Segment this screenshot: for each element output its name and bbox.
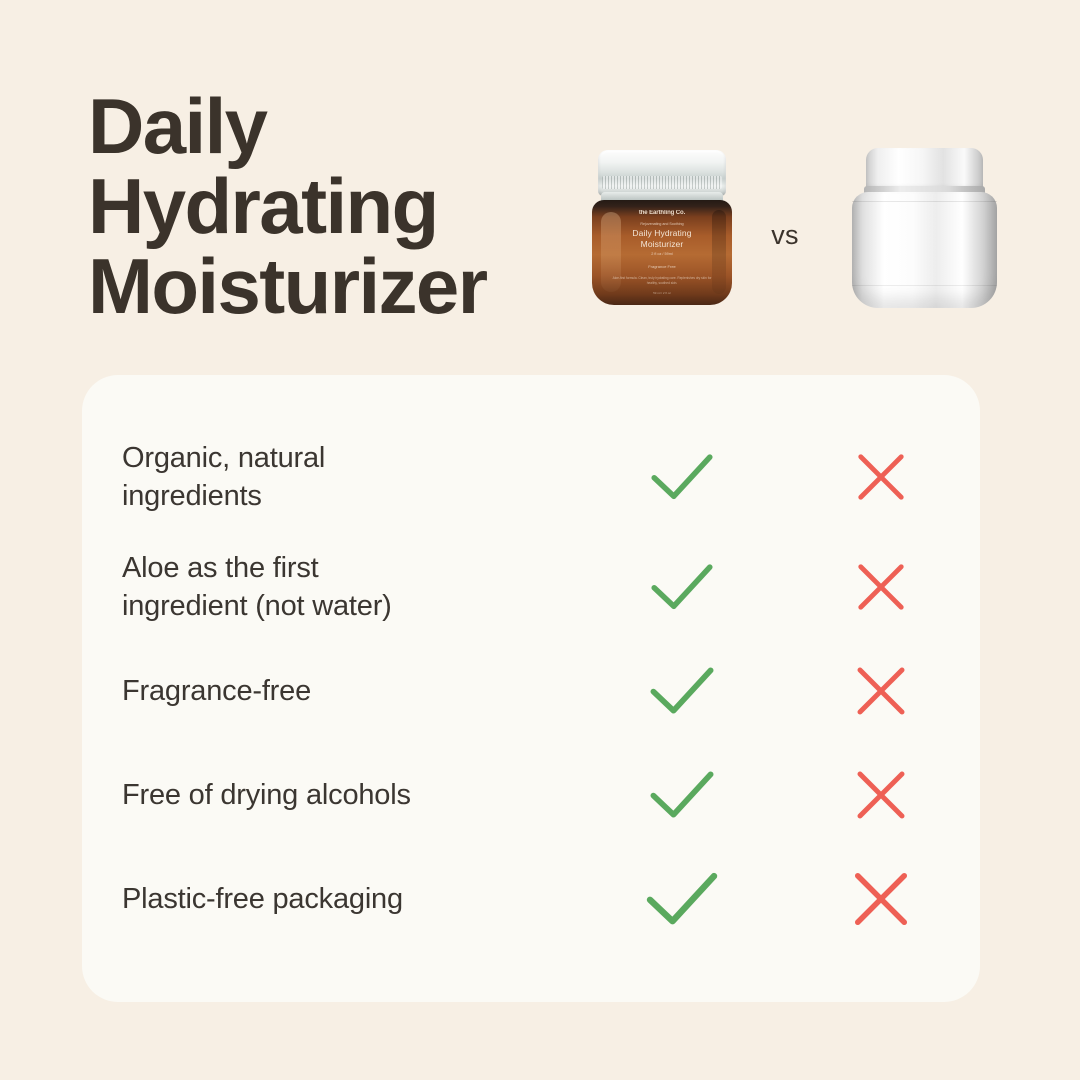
vs-label: vs: [755, 220, 815, 251]
comparison-row: Organic, naturalingredients: [82, 431, 980, 523]
feature-label-line: Free of drying alcohols: [122, 776, 582, 814]
competitor-mark-cell: [781, 868, 980, 930]
page-title-line-1: Daily: [88, 86, 558, 166]
comparison-row: Fragrance-free: [82, 653, 980, 729]
check-icon: [648, 664, 716, 717]
cross-icon: [853, 663, 909, 719]
cross-icon: [850, 868, 912, 930]
cross-icon: [854, 450, 908, 504]
feature-label-line: ingredient (not water): [122, 587, 582, 625]
competitor-jar-body: [852, 192, 997, 308]
feature-label: Fragrance-free: [82, 672, 582, 710]
page-title-line-2: Hydrating: [88, 166, 558, 246]
competitor-mark-cell: [781, 767, 980, 823]
jar-label-name-line-2: Moisturizer: [612, 239, 712, 249]
check-icon: [648, 768, 716, 821]
feature-label-line: Aloe as the first: [122, 549, 582, 587]
product-mark-cell: [582, 664, 781, 717]
jar-lid: [598, 150, 726, 196]
jar-label-claim: Fragrance Free: [612, 264, 712, 270]
product-jar-image: the Earthling Co. Rejuvenating and Sooth…: [592, 150, 732, 305]
check-icon: [649, 561, 715, 612]
feature-label: Free of drying alcohols: [82, 776, 582, 814]
jar-label-description: Aloe-first formula. Clean, truly hydrati…: [612, 276, 712, 286]
feature-label: Aloe as the firstingredient (not water): [82, 549, 582, 625]
comparison-rows: Organic, naturalingredientsAloe as the f…: [82, 375, 980, 1002]
header: Daily Hydrating Moisturizer the Earthlin…: [0, 0, 1080, 375]
jar-label: the Earthling Co. Rejuvenating and Sooth…: [612, 210, 712, 296]
feature-label: Organic, naturalingredients: [82, 439, 582, 515]
check-icon: [644, 869, 720, 928]
page-title: Daily Hydrating Moisturizer: [88, 86, 558, 326]
feature-label: Plastic-free packaging: [82, 880, 582, 918]
product-mark-cell: [582, 768, 781, 821]
jar-label-eyebrow: Rejuvenating and Soothing: [612, 221, 712, 227]
product-mark-cell: [582, 561, 781, 612]
jar-label-brand: the Earthling Co.: [612, 210, 712, 216]
feature-label-line: Fragrance-free: [122, 672, 582, 710]
check-icon: [649, 451, 715, 502]
comparison-row: Free of drying alcohols: [82, 757, 980, 833]
product-mark-cell: [582, 451, 781, 502]
jar-label-name-line-1: Daily Hydrating: [612, 228, 712, 238]
comparison-row: Plastic-free packaging: [82, 861, 980, 937]
product-mark-cell: [582, 869, 781, 928]
comparison-row: Aloe as the firstingredient (not water): [82, 541, 980, 633]
competitor-mark-cell: [781, 450, 980, 504]
jar-label-volume: 59 ml / 2 fl oz: [612, 291, 712, 296]
comparison-card: Organic, naturalingredientsAloe as the f…: [82, 375, 980, 1002]
competitor-jar-lid: [866, 148, 983, 190]
feature-label-line: ingredients: [122, 477, 582, 515]
cross-icon: [854, 560, 908, 614]
feature-label-line: Plastic-free packaging: [122, 880, 582, 918]
cross-icon: [853, 767, 909, 823]
jar-label-size: 2 fl oz / 59ml: [612, 251, 712, 257]
competitor-mark-cell: [781, 663, 980, 719]
feature-label-line: Organic, natural: [122, 439, 582, 477]
competitor-jar-image: [852, 148, 997, 308]
page-title-line-3: Moisturizer: [88, 246, 558, 326]
competitor-mark-cell: [781, 560, 980, 614]
product-comparison-visual: the Earthling Co. Rejuvenating and Sooth…: [570, 140, 1030, 320]
